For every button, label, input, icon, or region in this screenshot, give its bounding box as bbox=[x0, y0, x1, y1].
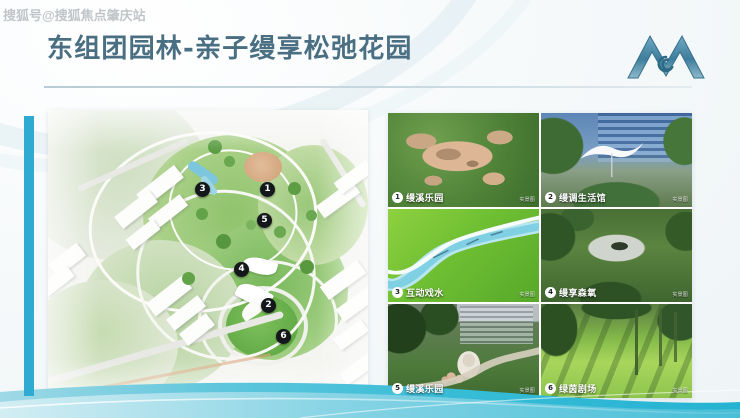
photo-caption-2: 2 缦调生活馆 bbox=[545, 191, 606, 204]
photo-forest-oxygen[interactable]: 4 缦享森氧 实景图 bbox=[541, 209, 692, 303]
map-marker-6[interactable]: 6 bbox=[276, 329, 291, 344]
photo-caption-label-4: 缦享森氧 bbox=[559, 286, 597, 299]
map-accent-bar bbox=[24, 116, 34, 396]
photo-caption-label-1: 缦溪乐园 bbox=[406, 191, 444, 204]
photo-note-2: 实景图 bbox=[672, 196, 688, 203]
photo-caption-6: 6 绿茵剧场 bbox=[545, 382, 597, 395]
photo-caption-1: 1 缦溪乐园 bbox=[392, 191, 444, 204]
photo-note-6: 实景图 bbox=[672, 387, 688, 394]
photo-note-5: 实景图 bbox=[519, 387, 535, 394]
map-marker-2[interactable]: 2 bbox=[261, 298, 276, 313]
photo-caption-label-2: 缦调生活馆 bbox=[559, 191, 606, 204]
page-title: 东组团园林-亲子缦享松弛花园 bbox=[47, 28, 413, 65]
photo-number-3: 3 bbox=[392, 287, 403, 298]
site-plan-map[interactable]: 3 1 5 4 2 6 bbox=[48, 110, 368, 400]
watermark-text: 搜狐号@搜狐焦点肇庆站 bbox=[3, 5, 146, 24]
map-marker-1[interactable]: 1 bbox=[260, 182, 275, 197]
map-background bbox=[48, 110, 368, 400]
photo-caption-3: 3 互动戏水 bbox=[392, 286, 444, 299]
photo-caption-label-3: 互动戏水 bbox=[406, 286, 444, 299]
photo-note-1: 实景图 bbox=[519, 196, 535, 203]
photo-gallery-grid: 1 缦溪乐园 实景图 2 缦调生活馆 实景图 bbox=[388, 113, 692, 398]
photo-number-2: 2 bbox=[545, 192, 556, 203]
photo-number-1: 1 bbox=[392, 192, 403, 203]
mountain-m-logo-icon bbox=[620, 26, 712, 84]
map-marker-4[interactable]: 4 bbox=[234, 262, 249, 277]
map-marker-5[interactable]: 5 bbox=[257, 213, 272, 228]
photo-caption-label-5: 缦溪乐园 bbox=[406, 382, 444, 395]
photo-number-5: 5 bbox=[392, 383, 403, 394]
photo-manxi-playground[interactable]: 1 缦溪乐园 实景图 bbox=[388, 113, 539, 207]
photo-note-3: 实景图 bbox=[519, 291, 535, 298]
photo-caption-label-6: 绿茵剧场 bbox=[559, 382, 597, 395]
photo-caption-4: 4 缦享森氧 bbox=[545, 286, 597, 299]
photo-manjiao-pavilion[interactable]: 2 缦调生活馆 实景图 bbox=[541, 113, 692, 207]
map-marker-3[interactable]: 3 bbox=[195, 182, 210, 197]
photo-note-4: 实景图 bbox=[672, 291, 688, 298]
bottom-wave-decoration bbox=[0, 378, 740, 418]
photo-number-4: 4 bbox=[545, 287, 556, 298]
title-divider bbox=[44, 86, 692, 88]
photo-caption-5: 5 缦溪乐园 bbox=[392, 382, 444, 395]
photo-number-6: 6 bbox=[545, 383, 556, 394]
slide-root: 搜狐号@搜狐焦点肇庆站 东组团园林-亲子缦享松弛花园 bbox=[0, 0, 740, 418]
photo-interactive-water[interactable]: 3 互动戏水 实景图 bbox=[388, 209, 539, 303]
